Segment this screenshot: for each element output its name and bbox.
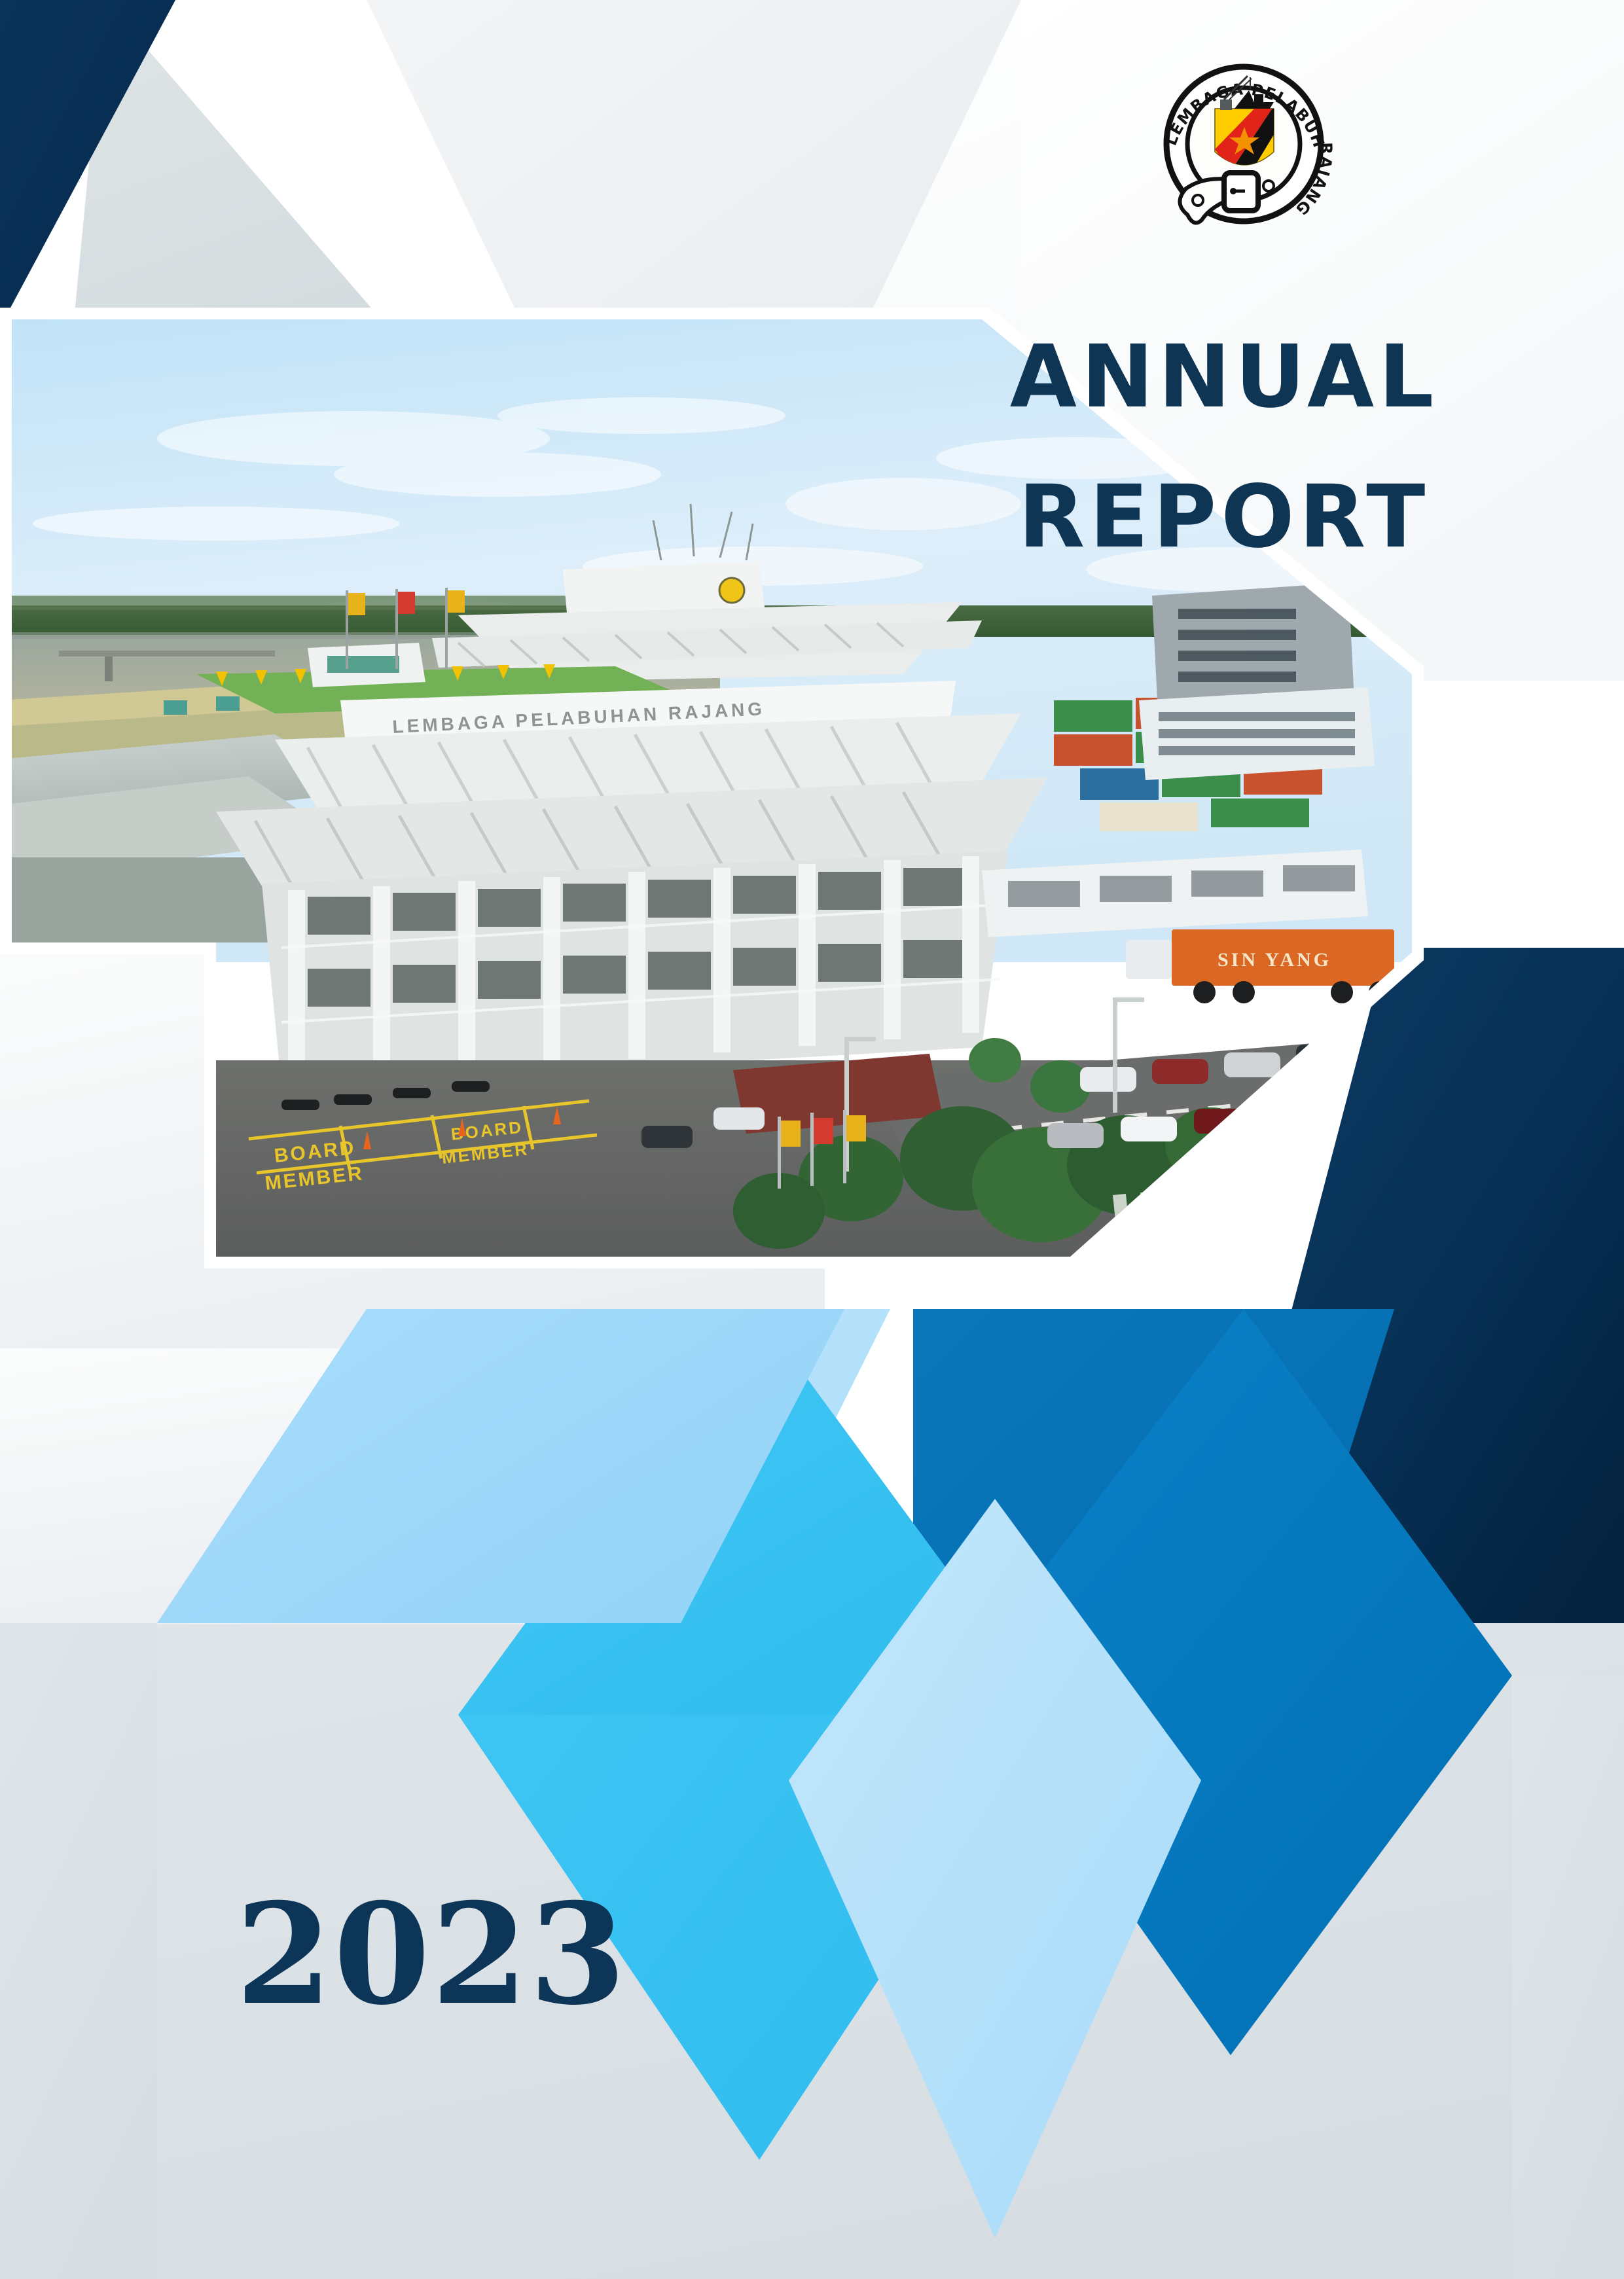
title-line-annual: ANNUAL — [936, 308, 1512, 448]
photo-jetty-post — [105, 656, 113, 681]
cover-year: 2023 — [236, 1885, 627, 2024]
year-text: 2023 — [236, 1873, 627, 2036]
organization-logo: LEMBAGA PELABUHAN RAJANG — [1132, 39, 1355, 262]
photo-far-trees — [0, 596, 589, 610]
bottom-right-gray — [1512, 1676, 1624, 2279]
photo-container-label: SIN YANG — [1218, 949, 1331, 971]
title-line-report: REPORT — [936, 448, 1512, 588]
logo-seal-svg: LEMBAGA PELABUHAN RAJANG — [1132, 39, 1355, 262]
photo-low-block-windows — [1159, 712, 1355, 755]
photo-building-crest — [719, 578, 744, 603]
photo-shed-wall — [0, 857, 281, 942]
photo-roof-cabin-window — [327, 656, 399, 673]
cover-title: ANNUAL REPORT — [936, 308, 1512, 588]
bottom-left-gray — [0, 1623, 157, 2279]
annual-report-cover-page: LEMBAGA PELABUHAN RAJANG — [0, 0, 1624, 2279]
photo-jetty — [59, 651, 275, 656]
